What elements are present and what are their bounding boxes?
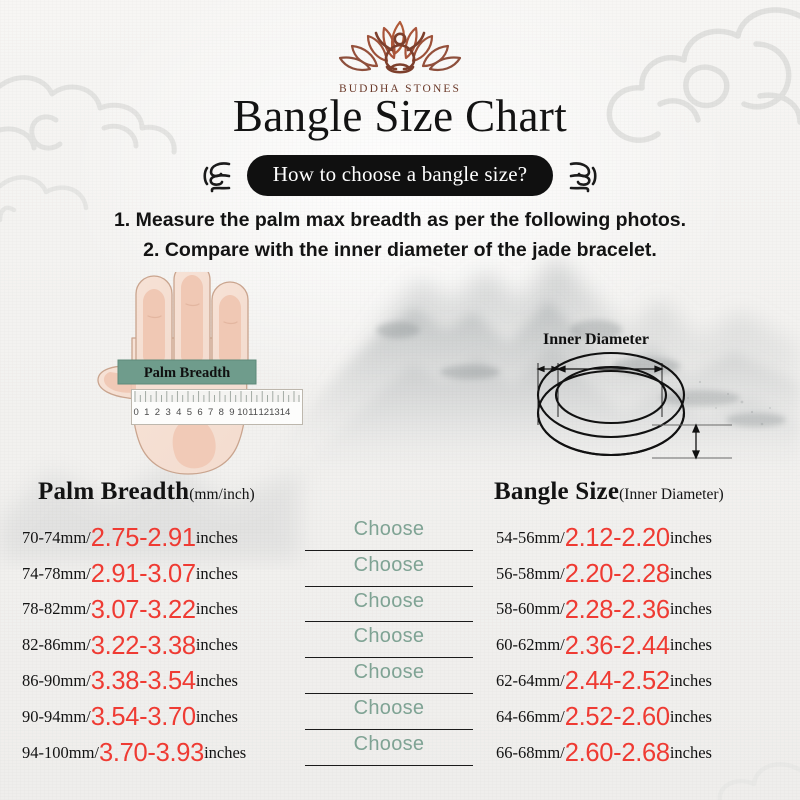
- palm-breadth-cell: 86-90mm/3.38-3.54inches: [22, 663, 238, 699]
- palm_unit: inches: [196, 671, 238, 691]
- palm_mm: 74-78mm/: [22, 564, 91, 584]
- choose-cell[interactable]: Choose: [305, 663, 473, 699]
- bangle-size-cell: 60-62mm/2.36-2.44inches: [496, 627, 712, 663]
- palm_in: 3.54-3.70: [91, 705, 196, 731]
- ruler-tick-label: 11: [248, 407, 258, 418]
- column-heading-right-title: Bangle Size: [494, 478, 619, 505]
- column-heading-right-subtitle: (Inner Diameter): [619, 486, 724, 503]
- ruler-tick-label: 7: [208, 407, 213, 418]
- bangle-size-cell: 66-68mm/2.60-2.68inches: [496, 735, 712, 771]
- palm_mm: 70-74mm/: [22, 528, 91, 548]
- choose-label[interactable]: Choose: [305, 661, 473, 684]
- instruction-steps: 1. Measure the palm max breadth as per t…: [0, 205, 800, 265]
- palm-breadth-cell: 82-86mm/3.22-3.38inches: [22, 627, 238, 663]
- bangle-size-cell: 54-56mm/2.12-2.20inches: [496, 520, 712, 556]
- instruction-step-1: 1. Measure the palm max breadth as per t…: [0, 205, 800, 235]
- palm-breadth-cell: 94-100mm/3.70-3.93inches: [22, 735, 246, 771]
- ruler-tick-label: 6: [197, 407, 202, 418]
- flourish-ornament-left-icon: [203, 156, 237, 196]
- bangle-size-cell: 64-66mm/2.52-2.60inches: [496, 699, 712, 735]
- choose-underline: [305, 765, 473, 766]
- ruler-tick-label: 5: [187, 407, 192, 418]
- bangle_in: 2.36-2.44: [565, 634, 670, 660]
- bangle-size-cell: 62-64mm/2.44-2.52inches: [496, 663, 712, 699]
- choose-label[interactable]: Choose: [305, 625, 473, 648]
- bangle_in: 2.60-2.68: [565, 741, 670, 767]
- bangle-size-cell: 58-60mm/2.28-2.36inches: [496, 592, 712, 628]
- choose-label[interactable]: Choose: [305, 518, 473, 541]
- palm_mm: 90-94mm/: [22, 707, 91, 727]
- palm_in: 2.75-2.91: [91, 526, 196, 552]
- palm_unit: inches: [204, 743, 246, 763]
- choose-cell[interactable]: Choose: [305, 520, 473, 556]
- palm_mm: 78-82mm/: [22, 599, 91, 619]
- palm_in: 3.22-3.38: [91, 634, 196, 660]
- choose-underline: [305, 693, 473, 694]
- ruler-tick-label: 3: [165, 407, 170, 418]
- bangle_mm: 54-56mm/: [496, 528, 565, 548]
- ruler-tick-label: 9: [229, 407, 234, 418]
- bangle_in: 2.28-2.36: [565, 598, 670, 624]
- choose-cell[interactable]: Choose: [305, 627, 473, 663]
- flourish-ornament-right-icon: [563, 156, 597, 196]
- bangle_in: 2.52-2.60: [565, 705, 670, 731]
- choose-underline: [305, 729, 473, 730]
- bangle_mm: 62-64mm/: [496, 671, 565, 691]
- choose-label[interactable]: Choose: [305, 733, 473, 756]
- bangle_unit: inches: [670, 707, 712, 727]
- ruler-tick-label: 2: [155, 407, 160, 418]
- palm_unit: inches: [196, 528, 238, 548]
- page-title: Bangle Size Chart: [0, 90, 800, 142]
- bangle_unit: inches: [670, 743, 712, 763]
- ruler-tick-label: 13: [269, 407, 280, 418]
- open-palm-hand-icon: Palm Breadth: [96, 272, 316, 477]
- bangle_mm: 66-68mm/: [496, 743, 565, 763]
- bangle-size-cell: 56-58mm/2.20-2.28inches: [496, 556, 712, 592]
- choose-underline: [305, 550, 473, 551]
- choose-label[interactable]: Choose: [305, 554, 473, 577]
- palm_mm: 86-90mm/: [22, 671, 91, 691]
- bangle_unit: inches: [670, 635, 712, 655]
- palm-breadth-label-text: Palm Breadth: [144, 365, 230, 381]
- table-row: 78-82mm/3.07-3.22inchesChoose58-60mm/2.2…: [0, 592, 800, 628]
- instruction-step-2: 2. Compare with the inner diameter of th…: [0, 235, 800, 265]
- table-row: 70-74mm/2.75-2.91inchesChoose54-56mm/2.1…: [0, 520, 800, 556]
- palm_unit: inches: [196, 564, 238, 584]
- inner-diameter-caption: Inner Diameter: [543, 331, 649, 348]
- palm_unit: inches: [196, 707, 238, 727]
- bangle_mm: 56-58mm/: [496, 564, 565, 584]
- bangle_in: 2.12-2.20: [565, 526, 670, 552]
- choose-cell[interactable]: Choose: [305, 699, 473, 735]
- brand-logo: BUDDHA STONES: [0, 14, 800, 95]
- bangle_unit: inches: [670, 599, 712, 619]
- palm-breadth-cell: 70-74mm/2.75-2.91inches: [22, 520, 238, 556]
- choose-underline: [305, 621, 473, 622]
- choose-cell[interactable]: Choose: [305, 556, 473, 592]
- table-row: 94-100mm/3.70-3.93inchesChoose66-68mm/2.…: [0, 735, 800, 771]
- ruler-tick-label: 14: [280, 407, 291, 418]
- bangle_mm: 58-60mm/: [496, 599, 565, 619]
- table-row: 86-90mm/3.38-3.54inchesChoose62-64mm/2.4…: [0, 663, 800, 699]
- choose-underline: [305, 586, 473, 587]
- palm_in: 3.70-3.93: [99, 741, 204, 767]
- bangle_mm: 64-66mm/: [496, 707, 565, 727]
- palm_in: 2.91-3.07: [91, 562, 196, 588]
- ruler-tick-label: 0: [134, 407, 139, 418]
- bangle-ring-icon: Inner Diameter: [500, 325, 780, 475]
- palm_unit: inches: [196, 635, 238, 655]
- palm_in: 3.07-3.22: [91, 598, 196, 624]
- choose-cell[interactable]: Choose: [305, 592, 473, 628]
- ruler-tick-label: 4: [176, 407, 181, 418]
- palm-breadth-cell: 74-78mm/2.91-3.07inches: [22, 556, 238, 592]
- palm-breadth-cell: 78-82mm/3.07-3.22inches: [22, 592, 238, 628]
- column-heading-right: Bangle Size(Inner Diameter): [494, 478, 724, 506]
- palm-breadth-cell: 90-94mm/3.54-3.70inches: [22, 699, 238, 735]
- bangle_in: 2.44-2.52: [565, 669, 670, 695]
- ruler-tick-label: 12: [258, 407, 269, 418]
- lotus-meditation-icon: [332, 14, 468, 82]
- bangle_unit: inches: [670, 528, 712, 548]
- column-heading-left-title: Palm Breadth: [38, 478, 189, 505]
- ruler-tick-label: 8: [219, 407, 224, 418]
- bangle-size-chart-page: BUDDHA STONES Bangle Size Chart How to c…: [0, 0, 800, 800]
- palm_in: 3.38-3.54: [91, 669, 196, 695]
- choose-underline: [305, 657, 473, 658]
- column-heading-left: Palm Breadth(mm/inch): [38, 478, 255, 506]
- choose-cell[interactable]: Choose: [305, 735, 473, 771]
- banner-row: How to choose a bangle size?: [0, 155, 800, 196]
- bangle_in: 2.20-2.28: [565, 562, 670, 588]
- choose-label[interactable]: Choose: [305, 590, 473, 613]
- column-heading-left-subtitle: (mm/inch): [189, 486, 254, 503]
- palm_mm: 94-100mm/: [22, 743, 99, 763]
- palm_mm: 82-86mm/: [22, 635, 91, 655]
- table-row: 82-86mm/3.22-3.38inchesChoose60-62mm/2.3…: [0, 627, 800, 663]
- palm_unit: inches: [196, 599, 238, 619]
- bangle_unit: inches: [670, 564, 712, 584]
- size-table: 70-74mm/2.75-2.91inchesChoose54-56mm/2.1…: [0, 520, 800, 771]
- ruler-tick-label: 10: [237, 407, 248, 418]
- ruler-icon: 01234567891011121314: [131, 389, 303, 425]
- palm-breadth-label: Palm Breadth: [118, 360, 256, 384]
- table-row: 90-94mm/3.54-3.70inchesChoose64-66mm/2.5…: [0, 699, 800, 735]
- ruler-tick-label: 1: [144, 407, 149, 418]
- table-row: 74-78mm/2.91-3.07inchesChoose56-58mm/2.2…: [0, 556, 800, 592]
- choose-label[interactable]: Choose: [305, 697, 473, 720]
- bangle_mm: 60-62mm/: [496, 635, 565, 655]
- bangle_unit: inches: [670, 671, 712, 691]
- how-to-choose-banner: How to choose a bangle size?: [247, 155, 554, 196]
